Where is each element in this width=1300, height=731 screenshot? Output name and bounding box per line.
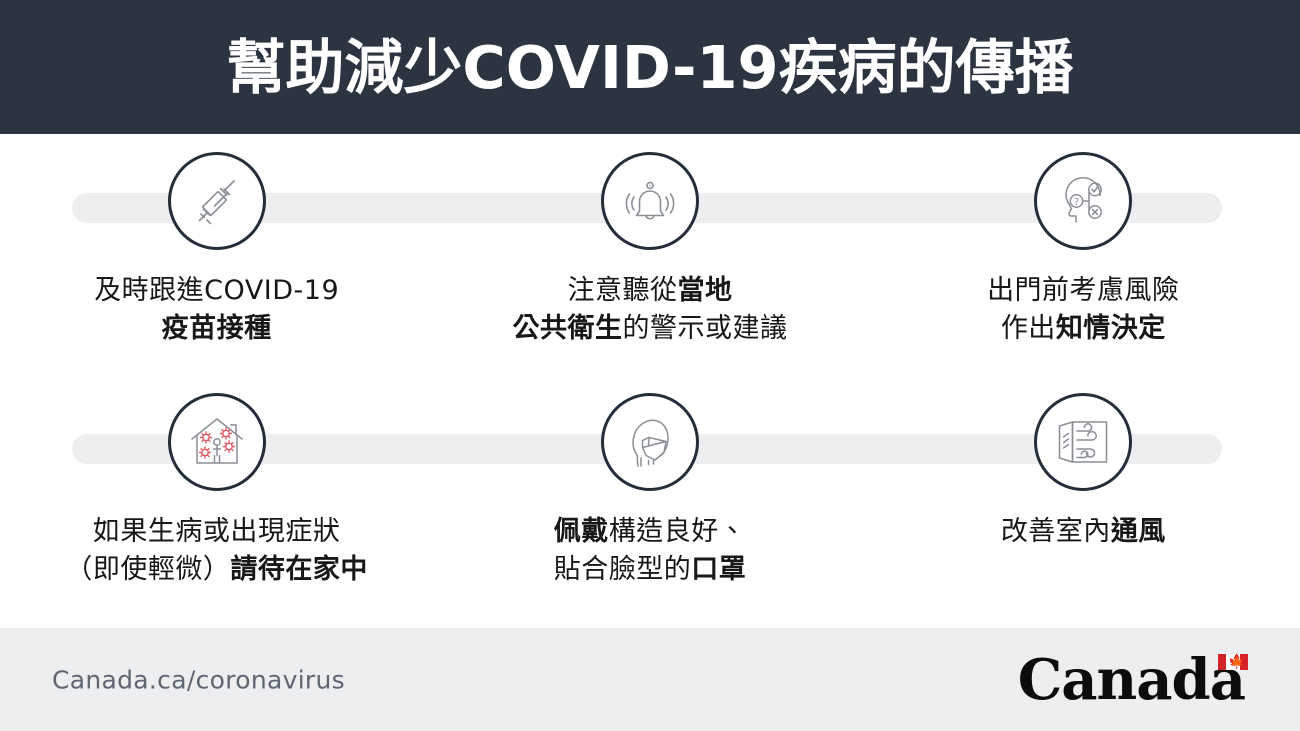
tip-caption: 佩戴構造良好、 貼合臉型的口罩 xyxy=(554,513,747,589)
website-url[interactable]: Canada.ca/coronavirus xyxy=(52,665,345,694)
tip-item-risk-decision: ? 出門前考慮風險 作出知情決定 xyxy=(867,134,1300,381)
icon-badge xyxy=(601,152,699,250)
wordmark-text: Canada xyxy=(1018,652,1245,708)
tip-item-public-health-advice: 注意聽從當地 公共衛生的警示或建議 xyxy=(433,134,866,381)
caption-line-2: （即使輕微）請待在家中 xyxy=(65,551,368,589)
ventilation-door-icon xyxy=(1052,414,1114,470)
tip-item-ventilation: 改善室內通風 xyxy=(867,381,1300,628)
icon-badge: ? xyxy=(1034,152,1132,250)
caption-line-2: 作出知情決定 xyxy=(987,310,1180,348)
tips-row-1: 及時跟進COVID-19 疫苗接種 xyxy=(0,134,1300,381)
infographic-poster: 幫助減少COVID-19疾病的傳播 xyxy=(0,0,1300,731)
tip-caption: 如果生病或出現症狀 （即使輕微）請待在家中 xyxy=(65,513,368,589)
tip-caption: 出門前考慮風險 作出知情決定 xyxy=(987,272,1180,348)
tip-caption: 注意聽從當地 公共衛生的警示或建議 xyxy=(512,272,787,348)
footer-band: Canada.ca/coronavirus Canada 🍁 xyxy=(0,628,1300,731)
svg-text:?: ? xyxy=(1074,197,1079,208)
caption-line-1: 佩戴構造良好、 xyxy=(554,513,747,551)
house-symptoms-icon xyxy=(186,413,248,471)
ringing-bell-icon xyxy=(620,173,680,229)
caption-line-2: 疫苗接種 xyxy=(94,310,339,348)
caption-line-1: 出門前考慮風險 xyxy=(987,272,1180,310)
tip-item-wear-mask: 佩戴構造良好、 貼合臉型的口罩 xyxy=(433,381,866,628)
syringe-icon xyxy=(188,172,246,230)
caption-line-1: 改善室內通風 xyxy=(1001,513,1166,551)
icon-badge xyxy=(168,393,266,491)
header-banner: 幫助減少COVID-19疾病的傳播 xyxy=(0,0,1300,134)
page-title: 幫助減少COVID-19疾病的傳播 xyxy=(226,38,1073,97)
icon-badge xyxy=(1034,393,1132,491)
canada-wordmark: Canada 🍁 xyxy=(1018,652,1248,708)
head-decision-icon: ? xyxy=(1054,172,1112,230)
icon-badge xyxy=(601,393,699,491)
caption-line-2: 公共衛生的警示或建議 xyxy=(512,310,787,348)
tip-item-vaccination: 及時跟進COVID-19 疫苗接種 xyxy=(0,134,433,381)
tips-grid: 及時跟進COVID-19 疫苗接種 xyxy=(0,134,1300,628)
icon-badge xyxy=(168,152,266,250)
caption-line-1: 注意聽從當地 xyxy=(512,272,787,310)
masked-face-icon xyxy=(621,412,679,472)
tip-caption: 及時跟進COVID-19 疫苗接種 xyxy=(94,272,339,348)
caption-line-1: 及時跟進COVID-19 xyxy=(94,272,339,310)
tip-caption: 改善室內通風 xyxy=(1001,513,1166,551)
caption-line-1: 如果生病或出現症狀 xyxy=(65,513,368,551)
canadian-flag-icon: 🍁 xyxy=(1218,654,1248,670)
tip-item-stay-home: 如果生病或出現症狀 （即使輕微）請待在家中 xyxy=(0,381,433,628)
maple-leaf-icon: 🍁 xyxy=(1228,655,1238,669)
tips-row-2: 如果生病或出現症狀 （即使輕微）請待在家中 xyxy=(0,381,1300,628)
caption-line-2: 貼合臉型的口罩 xyxy=(554,551,747,589)
